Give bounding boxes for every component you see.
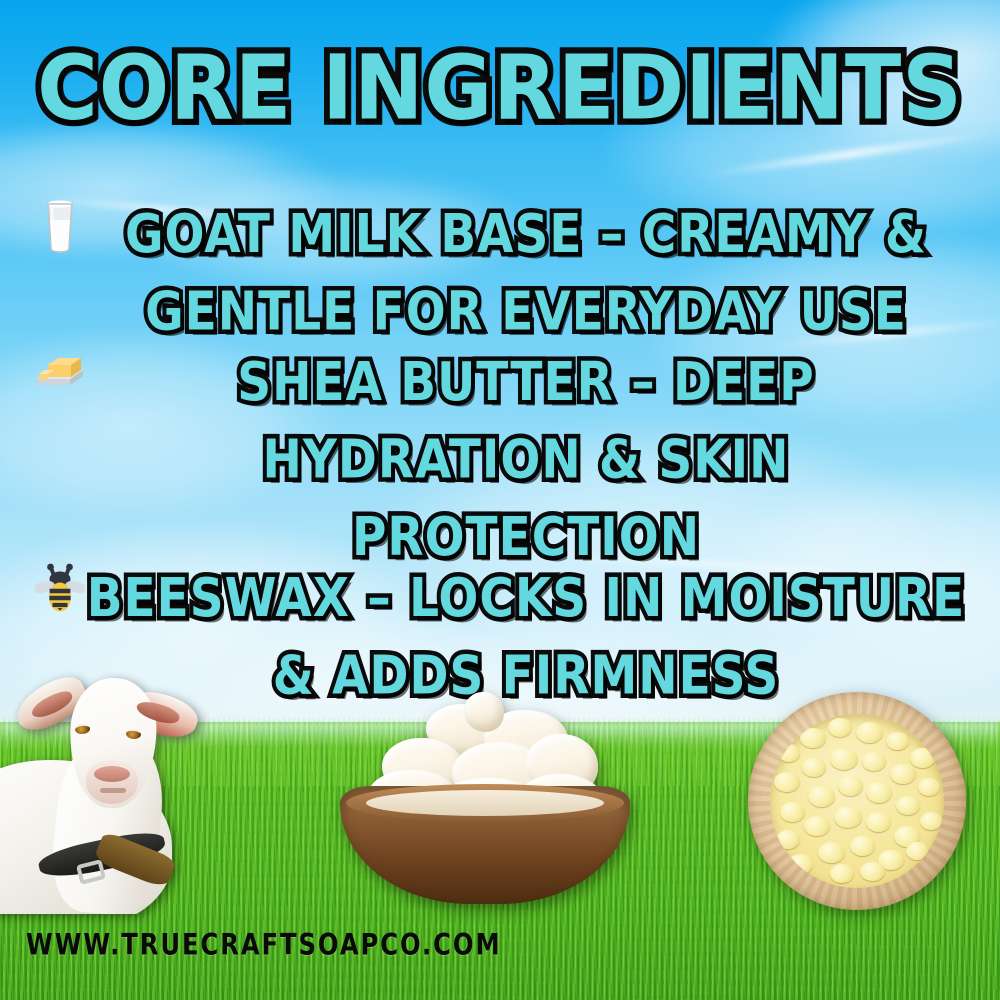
butter-icon	[34, 346, 86, 410]
honeybee-icon	[34, 562, 86, 626]
ingredient-list: GOAT MILK BASE – CREAMY & GENTLE FOR EVE…	[0, 196, 1000, 696]
list-item-label: SHEA BUTTER – DEEP HYDRATION & SKIN PROT…	[86, 344, 966, 577]
list-item-label: GOAT MILK BASE – CREAMY & GENTLE FOR EVE…	[86, 196, 966, 351]
goat-mouth	[100, 788, 126, 793]
goat-nose	[94, 766, 130, 782]
goat-photo	[0, 648, 250, 914]
page-title: CORE INGREDIENTS	[0, 40, 1000, 138]
beeswax-pellets	[770, 714, 944, 888]
milk-glass-icon	[34, 198, 86, 262]
list-item: SHEA BUTTER – DEEP HYDRATION & SKIN PROT…	[0, 344, 1000, 548]
shea-butter-photo	[340, 712, 630, 904]
beeswax-photo	[748, 692, 966, 910]
title-container: CORE INGREDIENTS	[0, 46, 1000, 132]
list-item: GOAT MILK BASE – CREAMY & GENTLE FOR EVE…	[0, 196, 1000, 332]
shea-bowl-interior	[366, 790, 604, 816]
website-url[interactable]: WWW.TRUECRAFTSOAPCO.COM	[26, 927, 502, 961]
ingredients-poster: CORE INGREDIENTS GOAT MILK BASE – CREAMY…	[0, 0, 1000, 1000]
